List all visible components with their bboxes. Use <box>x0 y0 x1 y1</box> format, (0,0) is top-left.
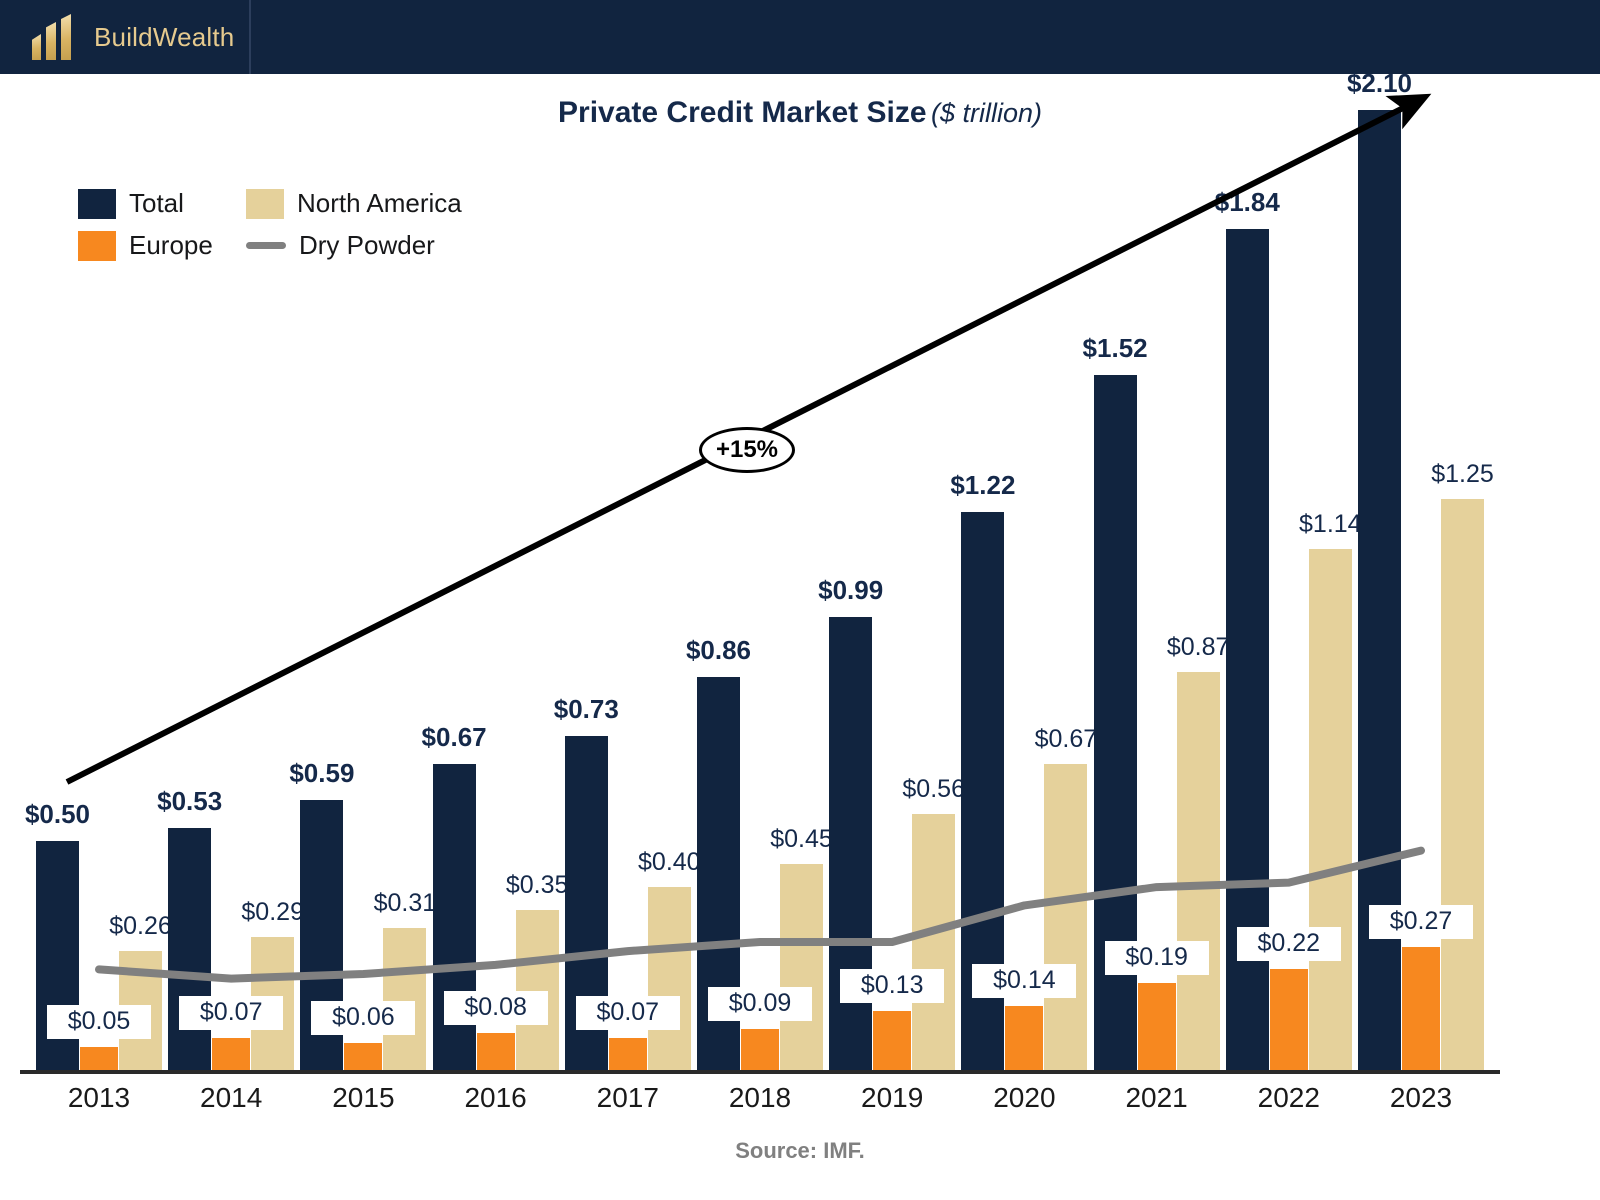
x-tick-2019: 2019 <box>832 1082 952 1114</box>
x-tick-2023: 2023 <box>1361 1082 1481 1114</box>
app-header: BuildWealth <box>0 0 1600 74</box>
dry-powder-line <box>0 74 1600 1074</box>
x-tick-2018: 2018 <box>700 1082 820 1114</box>
x-tick-2020: 2020 <box>964 1082 1084 1114</box>
dry-powder-polyline <box>99 851 1421 979</box>
x-tick-2015: 2015 <box>303 1082 423 1114</box>
x-tick-2013: 2013 <box>39 1082 159 1114</box>
x-tick-2022: 2022 <box>1229 1082 1349 1114</box>
growth-rate-badge: +15% <box>699 427 795 473</box>
three-bars-logo-icon <box>32 14 78 60</box>
x-tick-2017: 2017 <box>568 1082 688 1114</box>
header-divider <box>249 0 251 74</box>
x-tick-2016: 2016 <box>436 1082 556 1114</box>
x-tick-2021: 2021 <box>1097 1082 1217 1114</box>
brand-name: BuildWealth <box>94 22 234 53</box>
growth-rate-value: +15% <box>716 436 778 464</box>
source-note: Source: IMF. <box>0 1138 1600 1164</box>
chart-plot-area: $0.50$0.26$0.05$0.53$0.29$0.07$0.59$0.31… <box>0 74 1600 1074</box>
x-tick-2014: 2014 <box>171 1082 291 1114</box>
